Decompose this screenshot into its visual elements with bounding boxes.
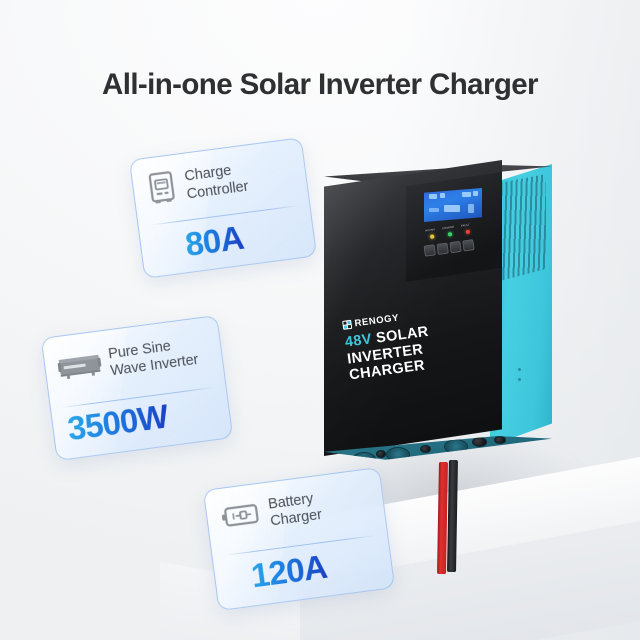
connector-port (494, 436, 506, 444)
control-button-1[interactable] (424, 244, 436, 256)
inverter-icon (56, 348, 104, 386)
spec-card-header: Pure Sine Wave Inverter (56, 332, 219, 387)
spec-card-value: 80A (183, 219, 246, 264)
page-title: All-in-one Solar Inverter Charger (0, 68, 640, 102)
renogy-mark-icon (342, 320, 352, 330)
connector-port (472, 437, 487, 447)
spec-card-pure-sine-wave-inverter[interactable]: Pure Sine Wave Inverter 3500W (41, 315, 234, 461)
charge-controller-icon (146, 169, 181, 210)
side-screw-dot (518, 378, 521, 381)
led-label-ac-inv: AC/INV (425, 228, 435, 232)
spec-card-charge-controller[interactable]: Charge Controller 80A (129, 137, 317, 279)
battery-charger-icon (220, 499, 264, 535)
spec-card-header: Battery Charger (220, 483, 379, 537)
control-button-3[interactable] (449, 241, 461, 253)
connector-port (334, 456, 348, 466)
side-ventilation-grille (496, 174, 546, 282)
control-button-2[interactable] (436, 243, 448, 255)
spec-card-label: Charge Controller (184, 161, 250, 203)
side-screw-dot (518, 368, 521, 371)
led-label-fault: FAULT (461, 224, 470, 228)
control-button-4[interactable] (462, 239, 474, 251)
connector-port (420, 445, 431, 453)
solar-inverter-charger-product: AC/INV CHARGE FAULT RENOGY 48V SOLAR (318, 160, 590, 480)
led-charge (448, 232, 452, 236)
spec-card-label: Pure Sine Wave Inverter (107, 335, 199, 380)
lcd-display[interactable] (424, 188, 482, 222)
connector-port (376, 450, 386, 458)
cooling-fan (444, 439, 468, 454)
cooling-fan (352, 452, 376, 467)
led-ac-inv (430, 234, 434, 238)
spec-card-battery-charger[interactable]: Battery Charger 120A (203, 467, 395, 611)
spec-card-label: Battery Charger (267, 490, 323, 531)
cooling-fan (386, 447, 410, 462)
spec-card-header: Charge Controller (146, 153, 300, 209)
product-hero-scene: All-in-one Solar Inverter Charger AC/IN (0, 0, 640, 640)
spec-card-value: 120A (249, 548, 329, 596)
led-fault (466, 230, 470, 234)
led-label-charge: CHARGE (442, 226, 455, 231)
